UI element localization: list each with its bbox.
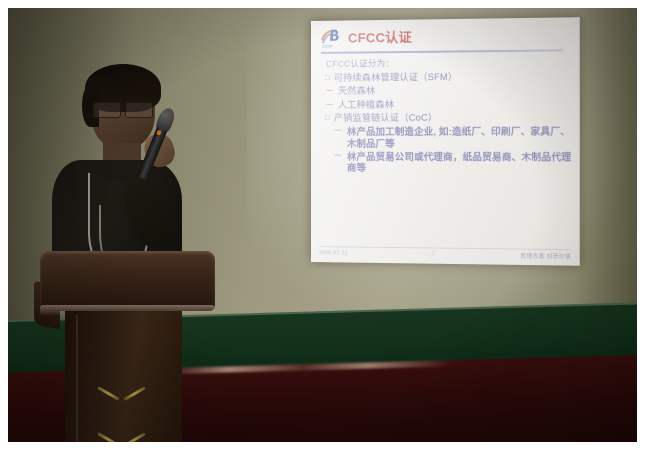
list-item: － 林产品加工制造企业, 如:造纸厂、印刷厂、家具厂、木制品厂等 (333, 126, 572, 149)
presentation-scene: CFCC认证 CFCC认证分为： □ 可持续森林管理认证（SFM） － 天然森林… (8, 8, 637, 442)
podium-edge-seam (76, 315, 78, 442)
slide-title: CFCC认证 (348, 31, 412, 45)
podium-chevron-lower (98, 432, 145, 442)
square-bullet-icon: □ (325, 113, 330, 122)
chevron-stroke-left (97, 386, 120, 401)
podium-front-panel (65, 311, 182, 442)
presentation-slide: CFCC认证 CFCC认证分为： □ 可持续森林管理认证（SFM） － 天然森林… (311, 17, 579, 266)
list-item-label: 林产品贸易公司或代理商，纸品贸易商、木制品代理商等 (347, 151, 572, 174)
dash-bullet-icon: － (333, 126, 343, 138)
list-item-label: 产销监管链认证（CoC） (334, 113, 437, 124)
list-item: － 林产品贸易公司或代理商，纸品贸易商、木制品代理商等 (333, 151, 572, 174)
podium-chevron-upper (98, 386, 145, 403)
projection-screen: CFCC认证 CFCC认证分为： □ 可持续森林管理认证（SFM） － 天然森林… (311, 17, 579, 266)
slide-header: CFCC认证 (320, 25, 572, 49)
glasses-lens-right (125, 102, 153, 118)
slide-lead-text: CFCC认证分为： (326, 55, 572, 69)
slide-footer-tagline: 管理改善 创造价值 (520, 252, 571, 261)
list-item: □ 可持续森林管理认证（SFM） (325, 71, 572, 84)
list-item: － 人工种植森林 (325, 98, 572, 110)
chevron-stroke-right (123, 432, 146, 442)
podium (36, 251, 218, 442)
cfcc-b-logo-icon (320, 28, 344, 49)
podium-top-surface (40, 251, 215, 311)
glasses-icon (93, 102, 153, 116)
chevron-stroke-right (123, 386, 146, 401)
list-item: － 天然森林 (325, 85, 572, 97)
slide-footer-date: 2008-07-21 (319, 250, 348, 256)
chevron-stroke-left (97, 432, 120, 442)
list-item: □ 产销监管链认证（CoC） (325, 112, 572, 124)
list-item-label: 人工种植森林 (338, 99, 394, 110)
list-item-label: 林产品加工制造企业, 如:造纸厂、印刷厂、家具厂、木制品厂等 (347, 126, 572, 149)
glasses-lens-left (93, 102, 121, 118)
photo-frame: CFCC认证 CFCC认证分为： □ 可持续森林管理认证（SFM） － 天然森林… (0, 0, 645, 452)
square-bullet-icon: □ (325, 73, 330, 82)
dash-bullet-icon: － (325, 100, 334, 110)
slide-bullet-list: □ 可持续森林管理认证（SFM） － 天然森林 － 人工种植森林 □ 产销监管链… (320, 71, 572, 174)
dash-bullet-icon: － (325, 86, 334, 96)
glasses-bridge (119, 108, 127, 109)
dash-bullet-icon: － (333, 151, 343, 163)
title-underline-rule (321, 49, 563, 54)
list-item-label: 可持续森林管理认证（SFM） (334, 72, 458, 84)
slide-footer: 2008-07-21 7 管理改善 创造价值 (319, 246, 571, 260)
list-item-label: 天然森林 (338, 86, 375, 97)
slide-page-number: 7 (432, 252, 435, 258)
